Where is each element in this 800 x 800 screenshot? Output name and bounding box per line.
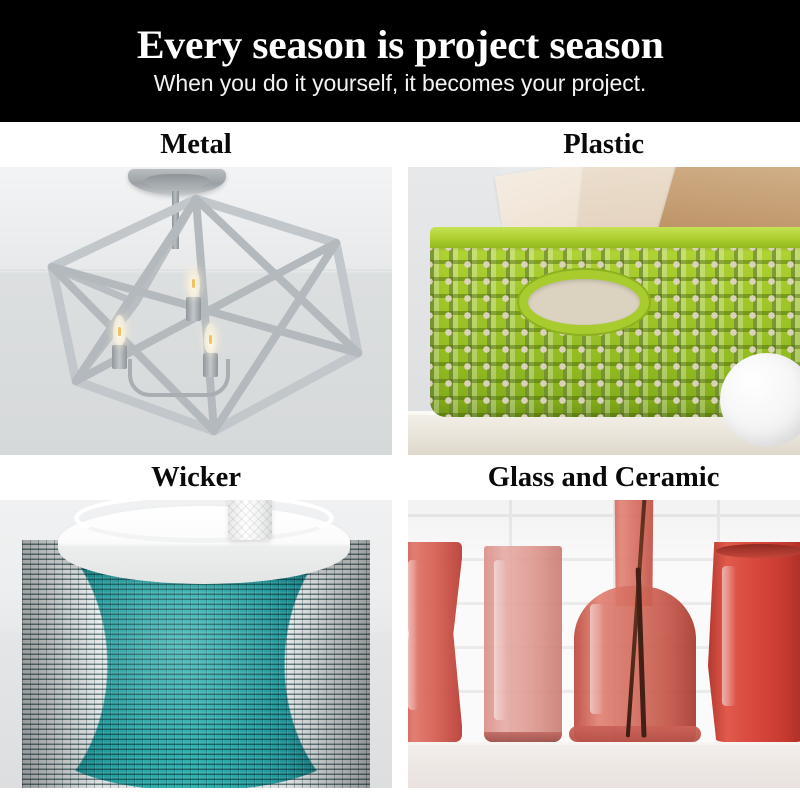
category-cell-plastic[interactable]: Plastic xyxy=(408,122,800,455)
header-banner: Every season is project season When you … xyxy=(0,0,800,122)
category-grid: Metal xyxy=(0,122,800,800)
category-label-text: Plastic xyxy=(564,131,645,159)
poster: Every season is project season When you … xyxy=(0,0,800,800)
light-filament-2 xyxy=(192,279,195,288)
light-socket-1 xyxy=(112,345,127,369)
glass-vase-4 xyxy=(708,542,800,742)
category-cell-wicker[interactable]: Wicker xyxy=(0,455,392,788)
category-label-text: Glass and Ceramic xyxy=(488,464,720,492)
category-label-plastic: Plastic xyxy=(408,122,800,167)
light-filament-3 xyxy=(209,335,212,344)
category-label-text: Wicker xyxy=(151,464,241,492)
category-image-glass-and-ceramic xyxy=(408,500,800,788)
category-image-metal xyxy=(0,167,392,455)
category-cell-glass-and-ceramic[interactable]: Glass and Ceramic xyxy=(408,455,800,788)
vase-highlight xyxy=(722,566,736,706)
light-filament-1 xyxy=(118,327,121,336)
light-arm-left xyxy=(128,359,184,397)
category-image-wicker xyxy=(0,500,392,788)
category-cell-metal[interactable]: Metal xyxy=(0,122,392,455)
light-socket-2 xyxy=(186,297,201,321)
glass-vase-1 xyxy=(408,542,462,742)
category-label-metal: Metal xyxy=(0,122,392,167)
glass-vase-2 xyxy=(484,546,562,742)
category-label-glass-and-ceramic: Glass and Ceramic xyxy=(408,455,800,500)
page-title: Every season is project season xyxy=(137,25,664,65)
vase-highlight xyxy=(590,604,604,714)
white-textured-vase xyxy=(228,500,272,540)
glass-vase-3 xyxy=(574,500,696,742)
category-label-text: Metal xyxy=(160,131,231,159)
light-socket-3 xyxy=(203,353,218,377)
category-image-plastic xyxy=(408,167,800,455)
basket-handle-cutout xyxy=(528,279,640,325)
counter-surface xyxy=(408,742,800,788)
basket-rim xyxy=(430,227,800,248)
vase-highlight xyxy=(494,560,506,720)
page-subtitle: When you do it yourself, it becomes your… xyxy=(154,71,646,96)
vase-highlight xyxy=(408,560,418,710)
category-label-wicker: Wicker xyxy=(0,455,392,500)
white-tray xyxy=(58,506,350,584)
